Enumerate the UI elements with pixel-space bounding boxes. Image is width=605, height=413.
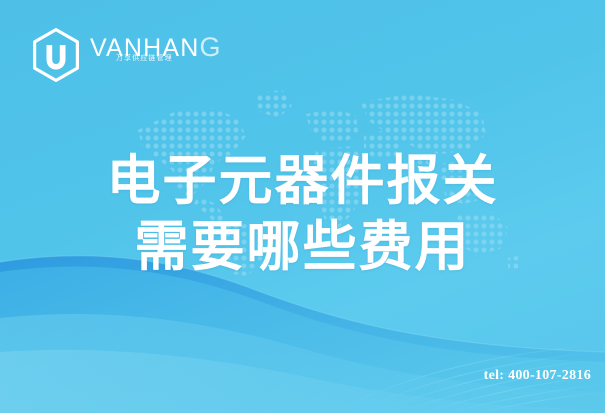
brand-wordmark-group: VANHANG 万享供应链管理 — [90, 33, 222, 77]
vanhang-hexagon-logo-icon — [30, 27, 82, 83]
promo-banner: VANHANG 万享供应链管理 电子元器件报关 需要哪些费用 tel: 400-… — [0, 0, 605, 413]
brand-logo[interactable]: VANHANG 万享供应链管理 — [30, 27, 222, 83]
page-title: 电子元器件报关 需要哪些费用 — [0, 148, 605, 280]
headline-line-1: 电子元器件报关 — [0, 148, 605, 214]
contact-phone[interactable]: tel: 400-107-2816 — [484, 368, 591, 384]
headline-line-2: 需要哪些费用 — [0, 214, 605, 280]
brand-wordmark-tail: G — [200, 32, 222, 62]
brand-subtitle: 万享供应链管理 — [116, 54, 173, 63]
